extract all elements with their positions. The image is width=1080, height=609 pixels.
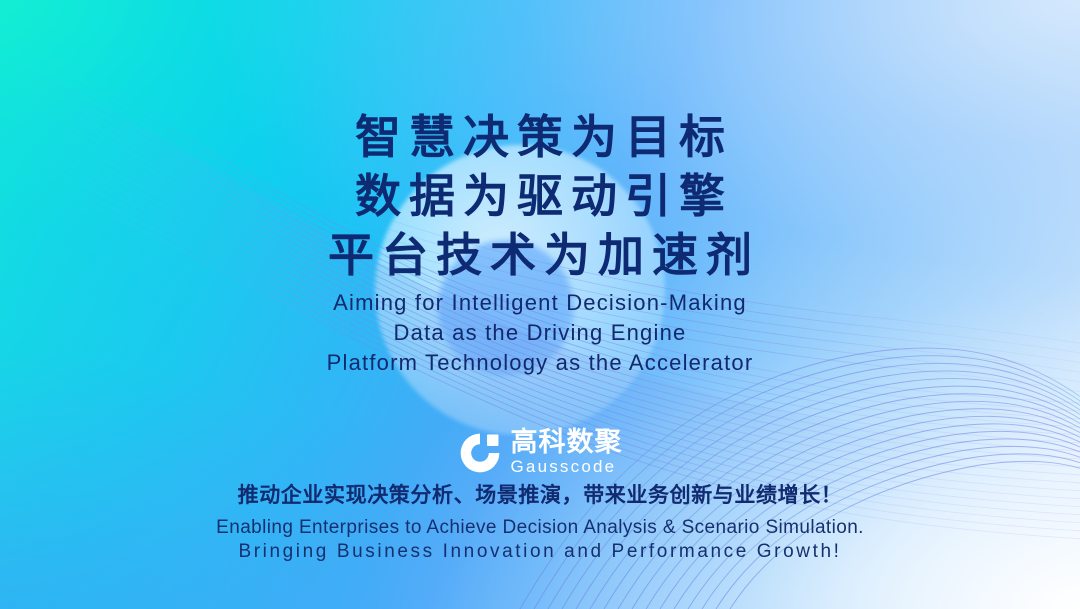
- headline-cn-line-2: 数据为驱动引擎: [0, 167, 1080, 226]
- headline-en-line-1: Aiming for Intelligent Decision-Making: [0, 288, 1080, 318]
- headline-en-block: Aiming for Intelligent Decision-Making D…: [0, 288, 1080, 378]
- footer-cn-line: 推动企业实现决策分析、场景推演，带来业务创新与业绩增长！: [0, 482, 1080, 510]
- brand-name-cn: 高科数聚: [511, 428, 623, 457]
- brand-wordmark: 高科数聚 Gausscode: [511, 428, 623, 477]
- headline-en-line-3: Platform Technology as the Accelerator: [0, 348, 1080, 378]
- promo-banner: 智慧决策为目标 数据为驱动引擎 平台技术为加速剂 Aiming for Inte…: [0, 0, 1080, 609]
- footer-en-line-1: Enabling Enterprises to Achieve Decision…: [0, 516, 1080, 540]
- headline-cn-line-1: 智慧决策为目标: [0, 108, 1080, 167]
- headline-block: 智慧决策为目标 数据为驱动引擎 平台技术为加速剂 Aiming for Inte…: [0, 108, 1080, 378]
- headline-en-line-2: Data as the Driving Engine: [0, 318, 1080, 348]
- brand-logo: 高科数聚 Gausscode: [0, 428, 1080, 477]
- brand-name-en: Gausscode: [511, 457, 623, 477]
- gausscode-ring-icon: [458, 431, 502, 475]
- footer-tagline-block: 推动企业实现决策分析、场景推演，带来业务创新与业绩增长！ Enabling En…: [0, 482, 1080, 564]
- headline-cn-line-3: 平台技术为加速剂: [0, 226, 1080, 285]
- footer-en-line-2: Bringing Business Innovation and Perform…: [0, 540, 1080, 564]
